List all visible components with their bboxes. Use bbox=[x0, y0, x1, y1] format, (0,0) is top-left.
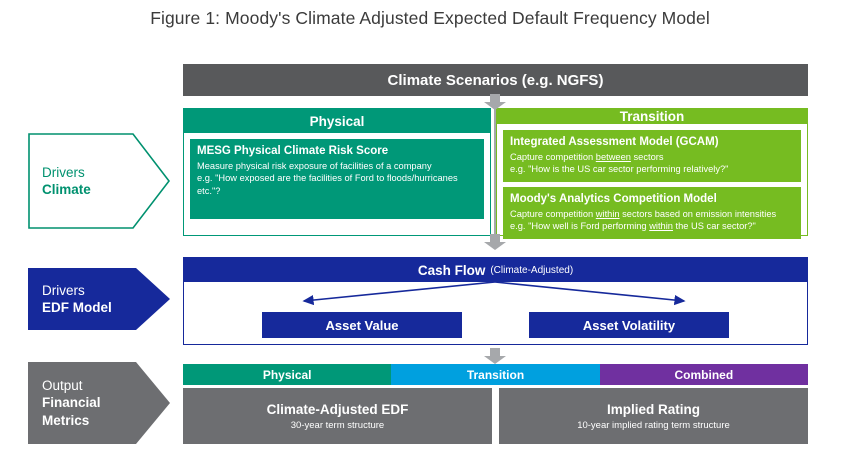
row-label-line1: Drivers bbox=[42, 282, 112, 299]
card-line-1: Measure physical risk exposure of facili… bbox=[197, 160, 477, 172]
card-text-post: the US car sector?" bbox=[673, 221, 756, 231]
down-arrow-icon bbox=[484, 348, 506, 364]
node-asset-volatility[interactable]: Asset Volatility bbox=[529, 312, 729, 338]
card-text-underlined: within bbox=[596, 209, 620, 219]
panel-transition-body: Integrated Assessment Model (GCAM) Captu… bbox=[497, 124, 807, 245]
diagram-canvas: Drivers Climate Drivers EDF Model Output… bbox=[0, 0, 860, 463]
card-text-pre: e.g. "How exposed are the facilities of … bbox=[197, 173, 458, 183]
output-segment-label: Combined bbox=[674, 368, 733, 382]
output-category-bar: Physical Transition Combined bbox=[183, 364, 808, 385]
output-card-implied-rating[interactable]: Implied Rating 10-year implied rating te… bbox=[499, 388, 808, 444]
output-segment-label: Physical bbox=[263, 368, 312, 382]
card-text-post: sectors bbox=[631, 152, 664, 162]
card-line-2: e.g. "How well is Ford performing within… bbox=[510, 220, 794, 232]
card-mesg-physical-climate-risk-score[interactable]: MESG Physical Climate Risk Score Measure… bbox=[190, 139, 484, 219]
output-card-subtitle: 30-year term structure bbox=[291, 420, 384, 431]
card-text-pre: Measure physical risk exposure of facili… bbox=[197, 161, 432, 171]
card-text-underlined: within bbox=[649, 221, 673, 231]
card-line-2: e.g. "How is the US car sector performin… bbox=[510, 163, 794, 175]
down-arrow-icon bbox=[484, 94, 506, 110]
panel-transition-header: Transition bbox=[497, 109, 807, 124]
card-integrated-assessment-model-gcam[interactable]: Integrated Assessment Model (GCAM) Captu… bbox=[503, 130, 801, 182]
output-segment-transition[interactable]: Transition bbox=[391, 364, 599, 385]
branching-arrows-icon bbox=[184, 282, 807, 316]
edf-model-block: Cash Flow (Climate-Adjusted) Asset Value… bbox=[183, 257, 808, 345]
output-segment-label: Transition bbox=[467, 368, 524, 382]
output-segment-physical[interactable]: Physical bbox=[183, 364, 391, 385]
card-line-3: etc."? bbox=[197, 185, 477, 197]
card-text-pre: Capture competition bbox=[510, 209, 596, 219]
card-line-1: Capture competition between sectors bbox=[510, 151, 794, 163]
node-asset-value-label: Asset Value bbox=[326, 318, 399, 333]
card-title: MESG Physical Climate Risk Score bbox=[197, 144, 477, 159]
row-label-climate-drivers: Drivers Climate bbox=[28, 133, 170, 229]
cash-flow-sublabel: (Climate-Adjusted) bbox=[490, 265, 573, 276]
row-label-line1: Drivers bbox=[42, 164, 91, 181]
cash-flow-label: Cash Flow bbox=[418, 263, 486, 278]
row-label-line1: Output bbox=[42, 377, 101, 394]
climate-scenarios-bar: Climate Scenarios (e.g. NGFS) bbox=[183, 64, 808, 96]
card-text-underlined: between bbox=[596, 152, 631, 162]
row-label-line2: EDF Model bbox=[42, 299, 112, 316]
row-label-output-text: Output Financial Metrics bbox=[28, 377, 101, 429]
card-text-pre: e.g. "How is the US car sector performin… bbox=[510, 164, 728, 174]
cash-flow-bar: Cash Flow (Climate-Adjusted) bbox=[184, 258, 807, 282]
row-label-edf-model-drivers: Drivers EDF Model bbox=[28, 268, 170, 330]
climate-scenarios-label: Climate Scenarios (e.g. NGFS) bbox=[388, 72, 604, 89]
card-title: Integrated Assessment Model (GCAM) bbox=[510, 135, 794, 150]
vertical-connector-line bbox=[494, 96, 496, 248]
output-card-title: Climate-Adjusted EDF bbox=[267, 402, 409, 417]
output-segment-combined[interactable]: Combined bbox=[600, 364, 808, 385]
output-card-subtitle: 10-year implied rating term structure bbox=[577, 420, 730, 431]
panel-physical: Physical MESG Physical Climate Risk Scor… bbox=[183, 108, 491, 236]
row-label-output-financial-metrics: Output Financial Metrics bbox=[28, 362, 170, 444]
card-line-1: Capture competition within sectors based… bbox=[510, 208, 794, 220]
output-card-title: Implied Rating bbox=[607, 402, 700, 417]
down-arrow-icon bbox=[484, 234, 506, 250]
edf-model-body: Asset Value Asset Volatility bbox=[184, 282, 807, 344]
card-text-pre: e.g. "How well is Ford performing bbox=[510, 221, 649, 231]
row-label-line3: Metrics bbox=[42, 412, 101, 429]
row-label-climate-text: Drivers Climate bbox=[28, 164, 91, 199]
panel-physical-header: Physical bbox=[184, 109, 490, 133]
row-label-line2: Financial bbox=[42, 394, 101, 411]
card-text-pre: Capture competition bbox=[510, 152, 596, 162]
panel-transition: Transition Integrated Assessment Model (… bbox=[496, 108, 808, 236]
node-asset-value[interactable]: Asset Value bbox=[262, 312, 462, 338]
output-card-climate-adjusted-edf[interactable]: Climate-Adjusted EDF 30-year term struct… bbox=[183, 388, 492, 444]
card-title: Moody's Analytics Competition Model bbox=[510, 192, 794, 207]
card-moodys-analytics-competition-model[interactable]: Moody's Analytics Competition Model Capt… bbox=[503, 187, 801, 239]
card-text-post: sectors based on emission intensities bbox=[620, 209, 777, 219]
panel-physical-body: MESG Physical Climate Risk Score Measure… bbox=[184, 133, 490, 235]
card-line-2: e.g. "How exposed are the facilities of … bbox=[197, 172, 477, 184]
row-label-line2: Climate bbox=[42, 181, 91, 198]
row-label-edf-text: Drivers EDF Model bbox=[28, 282, 112, 317]
output-metrics-row: Climate-Adjusted EDF 30-year term struct… bbox=[183, 388, 808, 444]
node-asset-volatility-label: Asset Volatility bbox=[583, 318, 675, 333]
